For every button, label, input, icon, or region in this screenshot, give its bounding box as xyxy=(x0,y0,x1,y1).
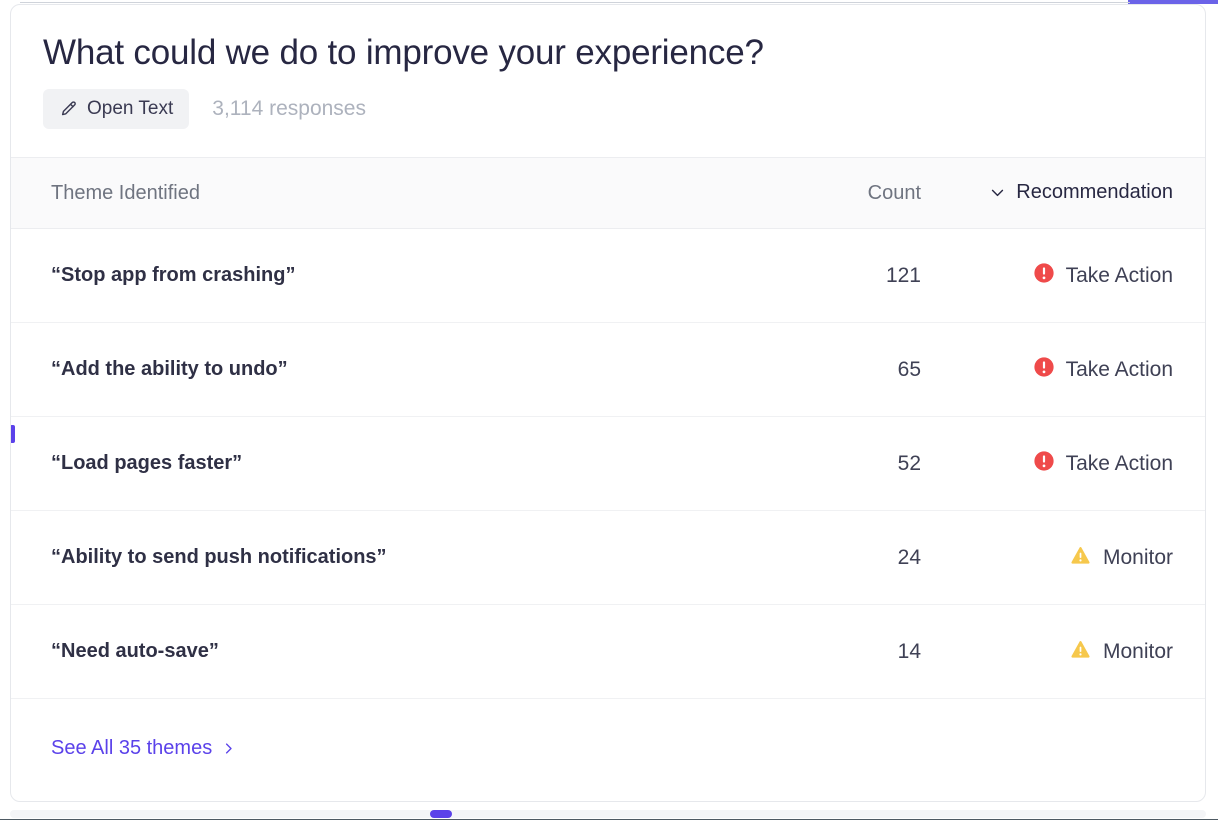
cell-theme: “Load pages faster” xyxy=(51,452,649,475)
cell-count: 52 xyxy=(649,452,921,476)
themes-table: Theme Identified Count Recommendation xyxy=(11,157,1205,699)
cell-recommendation: Take Action xyxy=(921,356,1173,383)
card-footer: See All 35 themes xyxy=(11,699,1205,760)
warning-triangle-icon xyxy=(1069,638,1092,666)
see-all-themes-link[interactable]: See All 35 themes xyxy=(51,737,236,760)
cell-count: 14 xyxy=(649,640,921,664)
cell-count: 121 xyxy=(649,264,921,288)
table-row[interactable]: “Stop app from crashing” 121 xyxy=(11,229,1205,323)
cell-theme: “Add the ability to undo” xyxy=(51,358,649,381)
cell-theme: “Ability to send push notifications” xyxy=(51,546,649,569)
horizontal-scrollbar[interactable] xyxy=(10,810,1206,818)
question-type-badge[interactable]: Open Text xyxy=(43,89,189,129)
cell-theme: “Need auto-save” xyxy=(51,640,649,663)
column-header-theme[interactable]: Theme Identified xyxy=(51,182,649,205)
warning-triangle-icon xyxy=(1069,544,1092,572)
left-edge-marker xyxy=(10,425,15,443)
recommendation-label: Monitor xyxy=(1103,640,1173,664)
question-meta-row: Open Text 3,114 responses xyxy=(43,89,1173,129)
recommendation-label: Take Action xyxy=(1066,452,1173,476)
see-all-themes-label: See All 35 themes xyxy=(51,737,212,760)
table-row[interactable]: “Add the ability to undo” 65 xyxy=(11,323,1205,417)
cell-recommendation: Take Action xyxy=(921,262,1173,289)
pencil-icon xyxy=(59,100,78,119)
column-header-recommendation-label: Recommendation xyxy=(1016,181,1173,204)
recommendation-label: Take Action xyxy=(1066,264,1173,288)
cell-recommendation: Take Action xyxy=(921,450,1173,477)
question-insight-card: What could we do to improve your experie… xyxy=(10,4,1206,802)
column-header-count[interactable]: Count xyxy=(649,182,921,205)
table-header-row: Theme Identified Count Recommendation xyxy=(11,157,1205,229)
response-count: 3,114 responses xyxy=(212,97,366,121)
column-header-recommendation[interactable]: Recommendation xyxy=(921,181,1173,206)
top-overflow-divider xyxy=(20,2,1130,3)
page-title: What could we do to improve your experie… xyxy=(43,31,1173,75)
exclamation-circle-icon xyxy=(1033,262,1055,289)
chevron-right-icon xyxy=(221,741,236,756)
chevron-down-icon xyxy=(989,184,1006,201)
exclamation-circle-icon xyxy=(1033,450,1055,477)
horizontal-scrollbar-thumb[interactable] xyxy=(430,810,452,818)
cell-recommendation: Monitor xyxy=(921,544,1173,572)
cell-recommendation: Monitor xyxy=(921,638,1173,666)
cell-count: 24 xyxy=(649,546,921,570)
recommendation-label: Monitor xyxy=(1103,546,1173,570)
cell-theme: “Stop app from crashing” xyxy=(51,264,649,287)
table-row[interactable]: “Ability to send push notifications” 24 xyxy=(11,511,1205,605)
recommendation-label: Take Action xyxy=(1066,358,1173,382)
table-row[interactable]: “Load pages faster” 52 T xyxy=(11,417,1205,511)
question-type-label: Open Text xyxy=(87,98,173,120)
exclamation-circle-icon xyxy=(1033,356,1055,383)
cell-count: 65 xyxy=(649,358,921,382)
card-header: What could we do to improve your experie… xyxy=(11,5,1205,129)
table-row[interactable]: “Need auto-save” 14 Moni xyxy=(11,605,1205,699)
screenshot-root: What could we do to improve your experie… xyxy=(0,0,1218,820)
